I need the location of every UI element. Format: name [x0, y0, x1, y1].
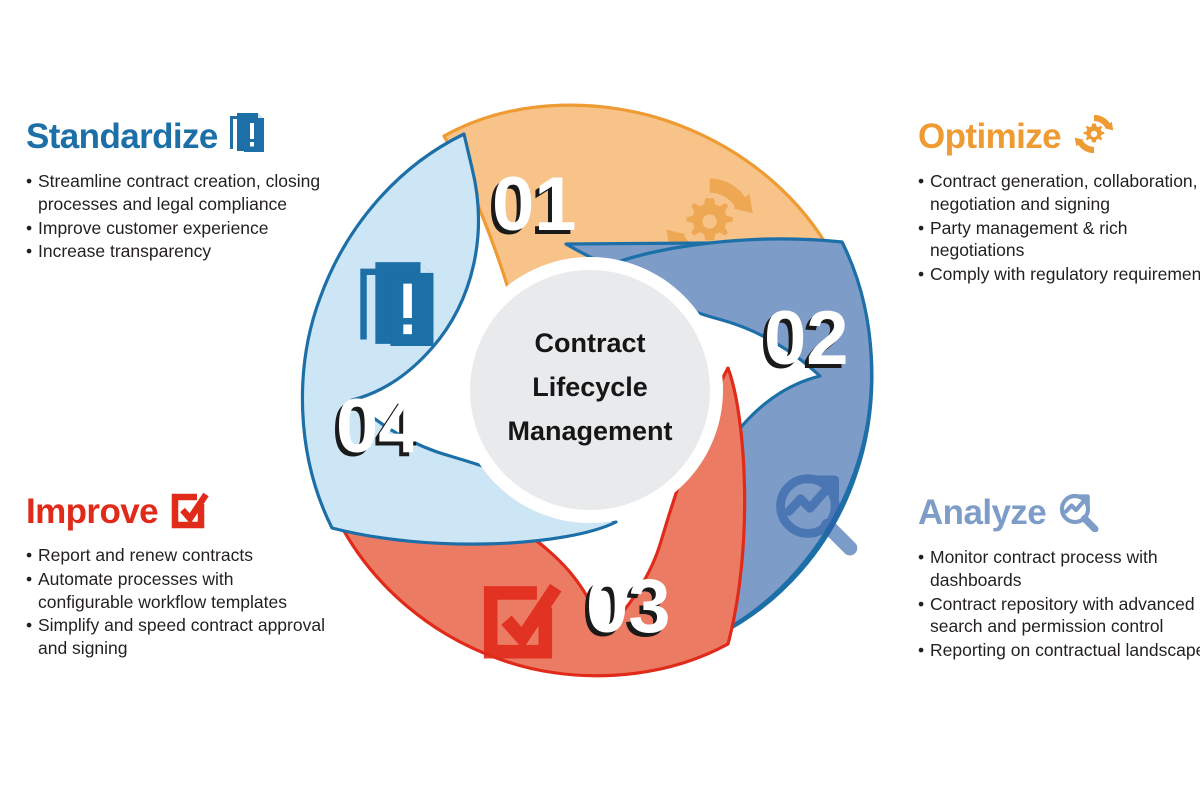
center-line-1: Contract: [534, 328, 645, 358]
list-item: Contract repository with advanced search…: [918, 593, 1200, 639]
list-item: Reporting on contractual landscape: [918, 639, 1200, 662]
documents-alert-icon: [228, 112, 274, 160]
improve-title: Improve: [26, 494, 158, 529]
segment-04-number: 04: [336, 384, 421, 469]
list-item: Party management & rich negotiations: [918, 217, 1200, 263]
analyze-title: Analyze: [918, 495, 1046, 530]
list-item: Contract generation, collaboration, nego…: [918, 170, 1200, 216]
segment-03-number: 03: [586, 564, 671, 649]
standardize-title: Standardize: [26, 119, 218, 154]
analyze-bullets: Monitor contract process with dashboards…: [918, 546, 1200, 662]
segment-01-number: 01: [492, 162, 577, 247]
gear-refresh-icon: [1071, 112, 1117, 160]
magnifier-chart-icon: [1056, 488, 1102, 536]
optimize-header: Optimize: [918, 112, 1200, 160]
optimize-bullets: Contract generation, collaboration, nego…: [918, 170, 1200, 286]
analyze-header: Analyze: [918, 488, 1200, 536]
quadrant-analyze: Analyze Monitor contract process with da…: [918, 488, 1200, 663]
center-line-2: Lifecycle: [532, 372, 648, 402]
list-item: Monitor contract process with dashboards: [918, 546, 1200, 592]
list-item: Comply with regulatory requirements: [918, 263, 1200, 286]
optimize-title: Optimize: [918, 119, 1061, 154]
lifecycle-wheel: 01 01 02 02: [276, 76, 904, 704]
center-line-3: Management: [507, 416, 672, 446]
center-disc: Contract Lifecycle Management: [457, 257, 723, 523]
checkbox-check-icon: [168, 488, 212, 534]
segment-02-number: 02: [764, 296, 849, 381]
quadrant-optimize: Optimize Contract generation, collaborat…: [918, 112, 1200, 287]
